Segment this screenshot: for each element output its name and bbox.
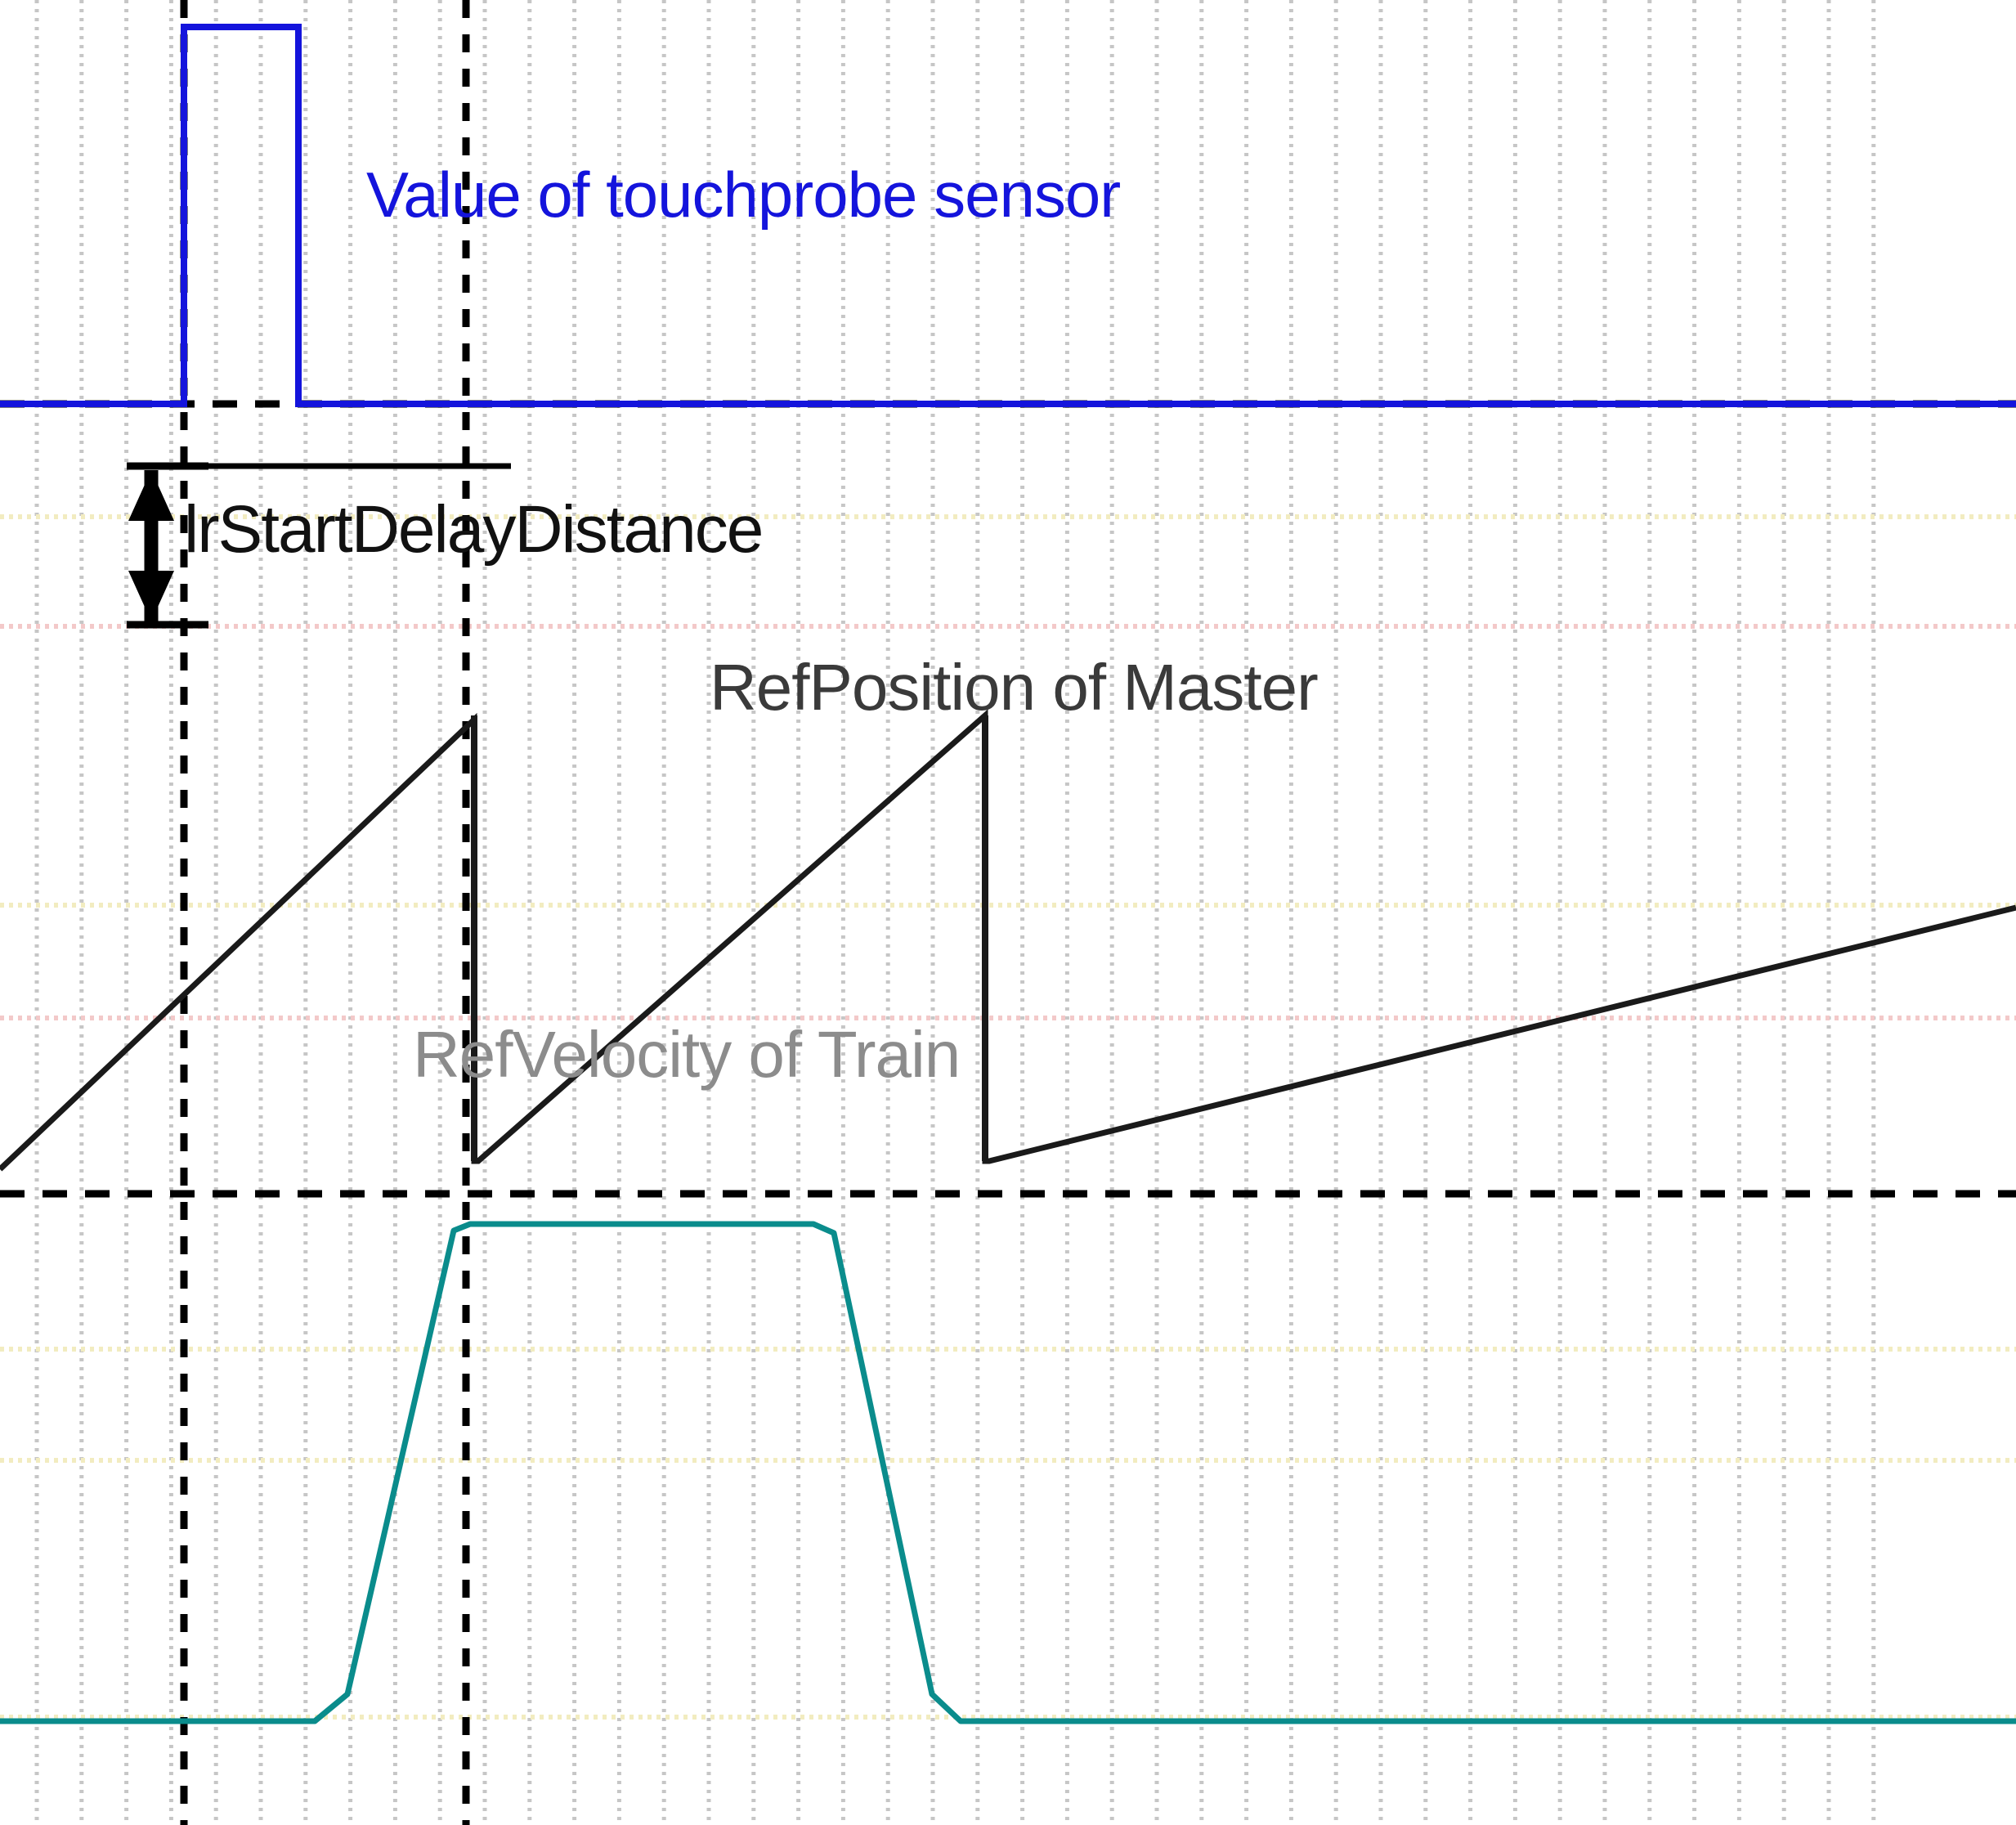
diagram-background <box>0 0 2016 1825</box>
label-lrstartdelaydistance: lrStartDelayDistance <box>184 492 762 567</box>
label-refvelocity-of-train: RefVelocity of Train <box>413 1018 960 1091</box>
timing-diagram-svg: Value of touchprobe sensor lrStartDelayD… <box>0 0 2016 1825</box>
timing-diagram-canvas: Value of touchprobe sensor lrStartDelayD… <box>0 0 2016 1825</box>
label-value-of-touchprobe-sensor: Value of touchprobe sensor <box>366 159 1120 231</box>
label-refposition-of-master: RefPosition of Master <box>710 651 1318 724</box>
